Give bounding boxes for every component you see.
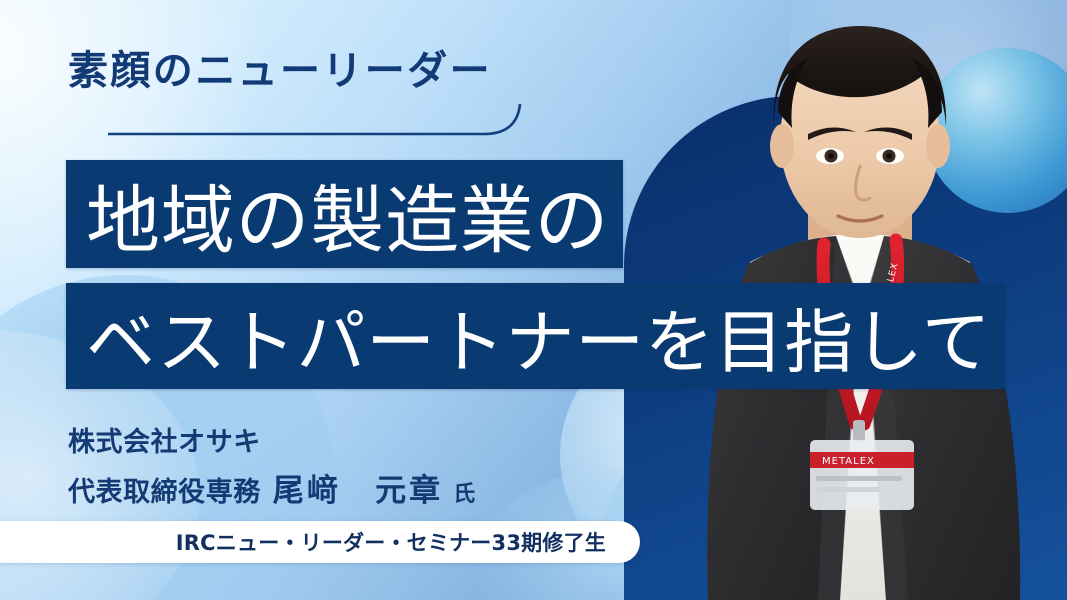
headline-band-2: ベストパートナーを目指して bbox=[66, 283, 1005, 389]
speaker-name-suffix: 氏 bbox=[453, 482, 476, 507]
speaker-name: 尾﨑 元章 bbox=[273, 473, 444, 509]
speaker-block: 株式会社オサキ 代表取締役専務尾﨑 元章氏 bbox=[68, 424, 476, 513]
speaker-company: 株式会社オサキ bbox=[68, 424, 476, 462]
seminar-badge-label: IRCニュー・リーダー・セミナー33期修了生 bbox=[176, 527, 606, 557]
eyebrow-heading: 素顔のニューリーダー bbox=[68, 38, 492, 96]
banner-stage: METALEX METALEX METALEX 素顔のニューリーダー 地域の製造… bbox=[0, 0, 1067, 600]
seminar-badge: IRCニュー・リーダー・セミナー33期修了生 bbox=[0, 521, 640, 563]
eyebrow-underline bbox=[108, 104, 528, 144]
headline-line-2: ベストパートナーを目指して bbox=[86, 286, 991, 386]
speaker-role: 代表取締役専務 bbox=[68, 477, 261, 508]
headline-band-1: 地域の製造業の bbox=[66, 160, 623, 268]
headline-line-1: 地域の製造業の bbox=[86, 161, 609, 268]
svg-text:METALEX: METALEX bbox=[822, 456, 875, 467]
speaker-role-line: 代表取締役専務尾﨑 元章氏 bbox=[68, 469, 476, 513]
